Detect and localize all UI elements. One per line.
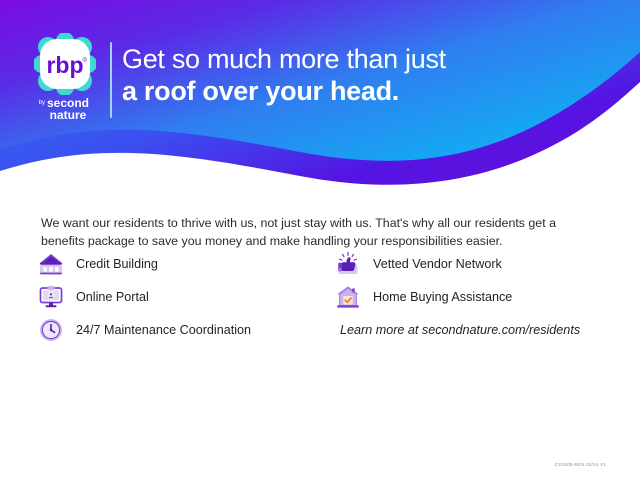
benefit-item-vetted-vendor-network: Vetted Vendor Network [335,247,615,280]
hero-banner: rbp ® by second nature Get so much more … [0,0,640,190]
headline-line-1: Get so much more than just [122,44,622,76]
benefit-item-maintenance-coordination: 24/7 Maintenance Coordination [38,313,318,346]
bank-building-icon [38,251,64,277]
benefit-item-credit-building: Credit Building [38,247,318,280]
benefit-item-online-portal: Online Portal [38,280,318,313]
learn-more-text: Learn more at secondnature.com/residents [340,323,615,337]
logo-headline-divider [110,42,112,118]
second-nature-byline: by second nature [26,95,104,123]
marketing-flyer-page: rbp ® by second nature Get so much more … [0,0,640,480]
benefit-label: Credit Building [76,257,158,271]
byline-nature-text: nature [50,108,87,122]
rbp-logo-text: rbp [46,52,83,78]
document-code: CS1008-RES 02/24 V1 [555,462,606,467]
clock-icon [38,317,64,343]
benefit-label: 24/7 Maintenance Coordination [76,323,251,337]
desktop-monitor-icon [38,284,64,310]
hero-headline: Get so much more than just a roof over y… [122,44,622,108]
benefit-label: Vetted Vendor Network [373,257,502,271]
rbp-logo: rbp ® by second nature [26,33,104,123]
benefits-left-column: Credit Building Online Portal [38,247,318,346]
benefit-item-home-buying-assistance: Home Buying Assistance [335,280,615,313]
benefits-right-column: Vetted Vendor Network Home Buying Assist… [335,247,615,337]
thumbs-up-icon [335,251,361,277]
headline-line-2: a roof over your head. [122,76,622,108]
byline-by-text: by [39,100,45,106]
intro-paragraph: We want our residents to thrive with us,… [41,215,589,251]
rbp-logo-mark-icon: rbp ® [34,33,96,95]
benefit-label: Home Buying Assistance [373,290,512,304]
rbp-logo-trademark: ® [83,57,88,64]
house-check-icon [335,284,361,310]
benefit-label: Online Portal [76,290,149,304]
